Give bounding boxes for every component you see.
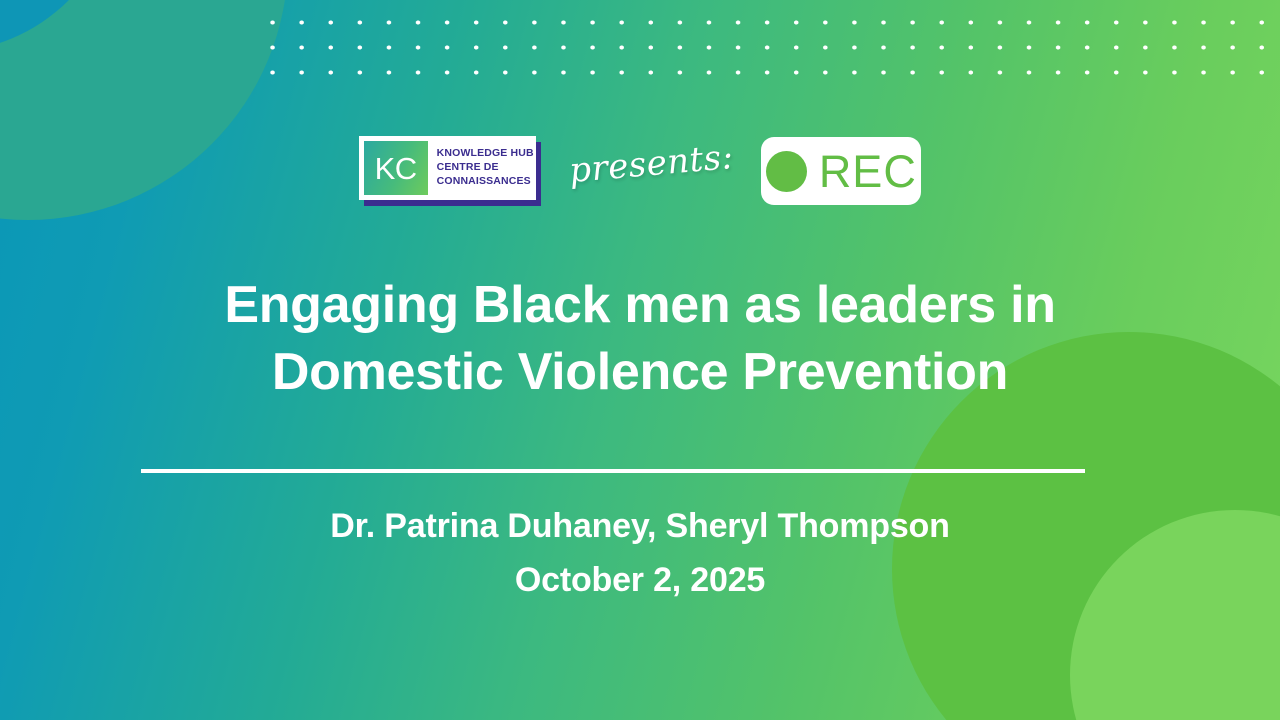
page-title-line-1: Engaging Black men as leaders in [120, 272, 1160, 339]
presenter-block: Dr. Patrina Duhaney, Sheryl Thompson Oct… [0, 500, 1280, 607]
page-title-line-2: Domestic Violence Prevention [120, 339, 1160, 406]
presenter-names: Dr. Patrina Duhaney, Sheryl Thompson [0, 500, 1280, 554]
knowledge-hub-wordmark: KNOWLEDGE HUB CENTRE DE CONNAISSANCES [437, 147, 534, 189]
title-slide: KC KNOWLEDGE HUB CENTRE DE CONNAISSANCES… [0, 0, 1280, 720]
knowledge-hub-wordmark-line-1: KNOWLEDGE HUB [437, 147, 534, 161]
dot-grid-pattern [258, 10, 1264, 76]
knowledge-hub-wordmark-line-3: CONNAISSANCES [437, 175, 534, 189]
presentation-date: October 2, 2025 [0, 554, 1280, 608]
record-dot-icon [766, 151, 807, 192]
knowledge-hub-logo-card: KC KNOWLEDGE HUB CENTRE DE CONNAISSANCES [359, 136, 536, 200]
rec-logo: REC [761, 137, 921, 205]
kc-monogram-label: KC [375, 153, 417, 184]
page-title: Engaging Black men as leaders in Domesti… [0, 272, 1280, 406]
kc-monogram-icon: KC [364, 141, 428, 195]
rec-logo-label: REC [819, 149, 917, 194]
divider-rule [141, 469, 1085, 473]
presents-label: presents: [567, 137, 735, 191]
knowledge-hub-logo: KC KNOWLEDGE HUB CENTRE DE CONNAISSANCES [359, 136, 541, 206]
logo-row: KC KNOWLEDGE HUB CENTRE DE CONNAISSANCES… [0, 125, 1280, 217]
knowledge-hub-wordmark-line-2: CENTRE DE [437, 161, 534, 175]
